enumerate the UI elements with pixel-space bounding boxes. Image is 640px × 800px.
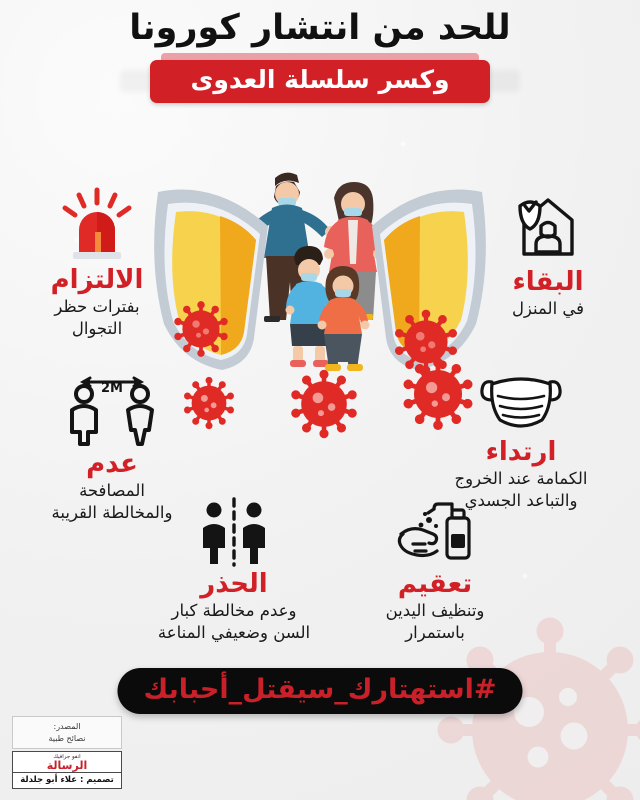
source-label: المصدر: (15, 721, 119, 733)
header: للحد من انتشار كورونا وكسر سلسلة العدوى (0, 8, 640, 103)
tip-stayhome-heading: البقاء (468, 268, 628, 297)
footer: المصدر: نصائح طبية انفو جرافيك الرسالة ت… (12, 716, 122, 789)
source-box: المصدر: نصائح طبية (12, 716, 122, 749)
tip-stayhome: البقاء في المنزل (468, 190, 628, 320)
face-mask-icon (476, 368, 566, 436)
poster-canvas: للحد من انتشار كورونا وكسر سلسلة العدوى (0, 0, 640, 800)
tip-sanitize-heading: تعقيم (346, 570, 524, 599)
siren-alarm-icon (53, 186, 141, 264)
tip-stayhome-body: في المنزل (468, 298, 628, 319)
two-meters-distance-icon: 2M (58, 372, 166, 448)
hand-sanitizer-icon (389, 494, 481, 568)
two-people-separated-icon (196, 496, 272, 568)
tip-caution: الحذر وعدم مخالطة كبار السن وضعيفي المنا… (128, 496, 340, 643)
tip-curfew: الالتزام بفترات حظر التجوال (8, 186, 186, 339)
source-value: نصائح طبية (15, 733, 119, 745)
svg-text:2M: 2M (101, 381, 123, 396)
tip-mask: ارتداء الكمامة عند الخروج والتباعد الجسد… (410, 368, 632, 511)
hashtag-banner-wrap: #استهتارك_سيقتل_أحبابك (117, 668, 522, 714)
tip-caution-heading: الحذر (128, 570, 340, 599)
hashtag-banner: #استهتارك_سيقتل_أحبابك (117, 668, 522, 714)
tip-sanitize-body: وتنظيف اليدين باستمرار (346, 600, 524, 643)
tip-curfew-heading: الالتزام (8, 266, 186, 295)
tip-mask-heading: ارتداء (410, 438, 632, 467)
subtitle-banner: وكسر سلسلة العدوى (150, 60, 489, 103)
house-shield-person-icon (508, 190, 588, 266)
tip-curfew-body: بفترات حظر التجوال (8, 296, 186, 339)
logo-main-text: الرسالة (15, 760, 119, 771)
tip-caution-body: وعدم مخالطة كبار السن وضعيفي المناعة (128, 600, 340, 643)
family-shields-illustration (148, 128, 492, 378)
tip-sanitize: تعقيم وتنظيف اليدين باستمرار (346, 494, 524, 643)
designer-credit: تصميم : علاء أبو جلدلة (12, 773, 122, 789)
publisher-logo: انفو جرافيك الرسالة (12, 751, 122, 773)
subtitle-banner-wrap: وكسر سلسلة العدوى (0, 60, 640, 103)
page-title: للحد من انتشار كورونا (0, 8, 640, 48)
tip-nohandshake-heading: عدم (14, 450, 210, 479)
